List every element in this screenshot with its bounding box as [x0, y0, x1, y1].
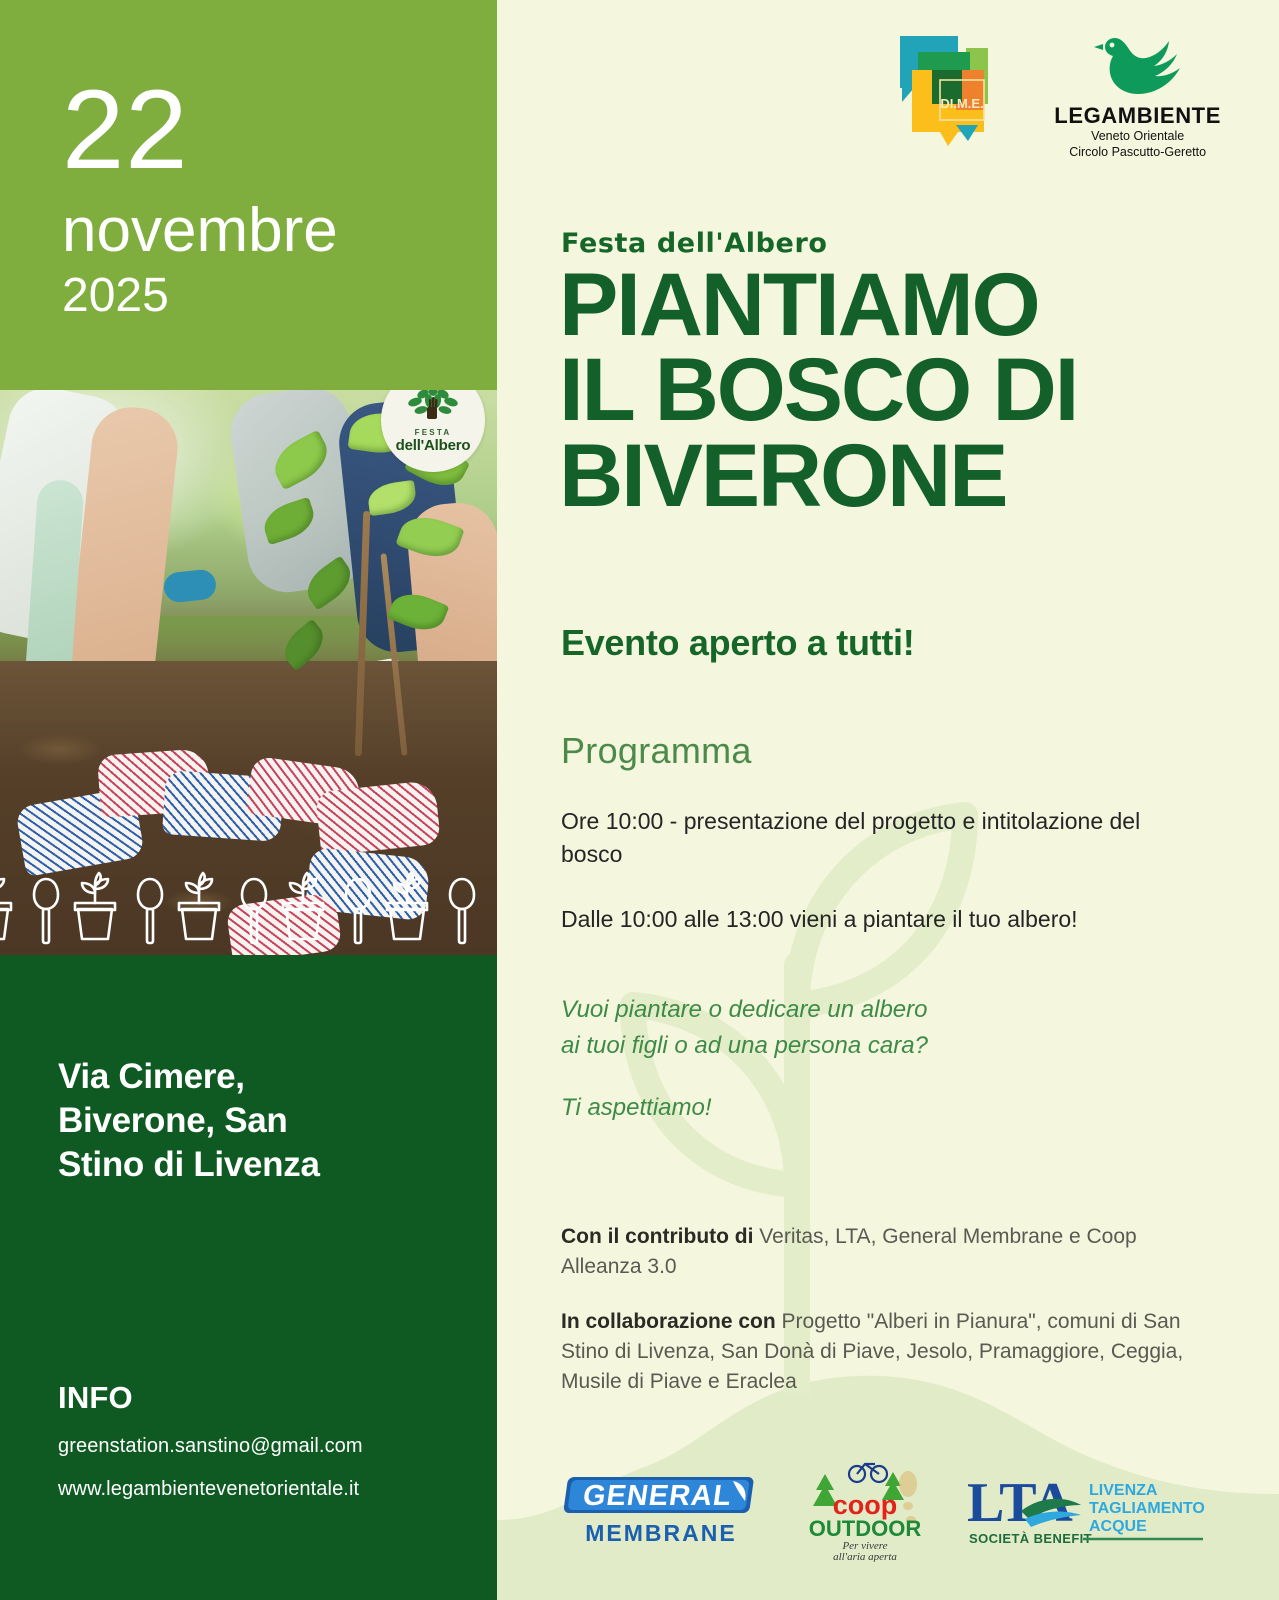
lta-line-2: TAGLIAMENTO — [1089, 1500, 1205, 1517]
left-column: 22 novembre 2025 — [0, 0, 497, 1600]
badge-albero-label: dell'Albero — [396, 437, 471, 454]
date-month: novembre — [62, 200, 338, 262]
general-membrane-logo: GENERAL MEMBRANE — [557, 1471, 769, 1549]
sponsor-logos: GENERAL MEMBRANE — [557, 1458, 1257, 1562]
programme-heading: Programma — [561, 730, 752, 772]
title-line-2: IL BOSCO DI — [559, 347, 1259, 432]
date-day: 22 — [62, 74, 189, 186]
info-email[interactable]: greenstation.sanstino@gmail.com — [58, 1435, 363, 1458]
programme-item-2: Dalle 10:00 alle 13:00 vieni a piantare … — [561, 903, 1221, 936]
top-logos: DI.M.E. LEGAMBIENTE Veneto Orientale Cir… — [896, 30, 1221, 160]
coop-tagline-2: all'aria aperta — [833, 1551, 897, 1562]
lta-line-1: LIVENZA — [1089, 1482, 1158, 1499]
membrane-wordmark: MEMBRANE — [585, 1520, 736, 1546]
outdoor-wordmark: OUTDOOR — [809, 1516, 922, 1541]
title-line-1: PIANTIAMO — [559, 262, 1259, 347]
legambiente-sub2: Circolo Pascutto-Geretto — [1054, 145, 1221, 161]
contributors-label: Con il contributo di — [561, 1225, 753, 1248]
right-column: DI.M.E. LEGAMBIENTE Veneto Orientale Cir… — [497, 0, 1279, 1600]
collaborators-label: In collaborazione con — [561, 1310, 776, 1333]
lta-logo: LTA SOCIETÀ BENEFIT LIVENZA TAGLIAMENTO … — [963, 1467, 1211, 1553]
sponsor-coop-outdoor: coop OUTDOOR Per vivere all'aria aperta — [807, 1458, 925, 1562]
coop-outdoor-logo: coop OUTDOOR Per vivere all'aria aperta — [807, 1458, 925, 1562]
programme-item-1: Ore 10:00 - presentazione del progetto e… — [561, 805, 1201, 870]
legambiente-name: LEGAMBIENTE — [1054, 103, 1221, 129]
call-to-action-1: Vuoi piantare o dedicare un albero ai tu… — [561, 992, 1201, 1064]
dime-logo-label: DI.M.E. — [941, 96, 984, 111]
legambiente-logo: LEGAMBIENTE Veneto Orientale Circolo Pas… — [1054, 30, 1221, 160]
lta-societa-benefit: SOCIETÀ BENEFIT — [969, 1531, 1092, 1546]
dime-logo: DI.M.E. — [896, 30, 992, 148]
photo-image — [0, 390, 497, 955]
tree-hand-icon — [407, 390, 459, 426]
sponsor-lta: LTA SOCIETÀ BENEFIT LIVENZA TAGLIAMENTO … — [963, 1467, 1211, 1553]
general-wordmark: GENERAL — [581, 1480, 734, 1512]
date-band: 22 novembre 2025 — [0, 0, 497, 390]
lta-line-3: ACQUE — [1089, 1518, 1147, 1535]
info-heading: INFO — [58, 1380, 133, 1416]
poster-root: 22 novembre 2025 — [0, 0, 1279, 1600]
sponsor-general-membrane: GENERAL MEMBRANE — [557, 1471, 769, 1549]
legambiente-swan-icon — [1085, 30, 1191, 96]
info-website[interactable]: www.legambientevenetorientale.it — [58, 1478, 359, 1501]
legambiente-sub1: Veneto Orientale — [1054, 129, 1221, 145]
date-year: 2025 — [62, 272, 169, 320]
contributors-text: Con il contributo di Veritas, LTA, Gener… — [561, 1222, 1201, 1282]
badge-festa-label: FESTA — [415, 428, 452, 437]
call-to-action-2: Ti aspettiamo! — [561, 1094, 712, 1122]
event-address: Via Cimere, Biverone, San Stino di Liven… — [58, 1055, 458, 1187]
collaborators-text: In collaborazione con Progetto "Alberi i… — [561, 1307, 1201, 1396]
title-line-3: BIVERONE — [559, 433, 1259, 518]
dime-speech-bubbles-icon: DI.M.E. — [896, 30, 992, 148]
subtitle-text: Evento aperto a tutti! — [561, 622, 914, 664]
page-title: PIANTIAMO IL BOSCO DI BIVERONE — [559, 262, 1259, 518]
planting-photo: FESTA dell'Albero — [0, 390, 497, 955]
